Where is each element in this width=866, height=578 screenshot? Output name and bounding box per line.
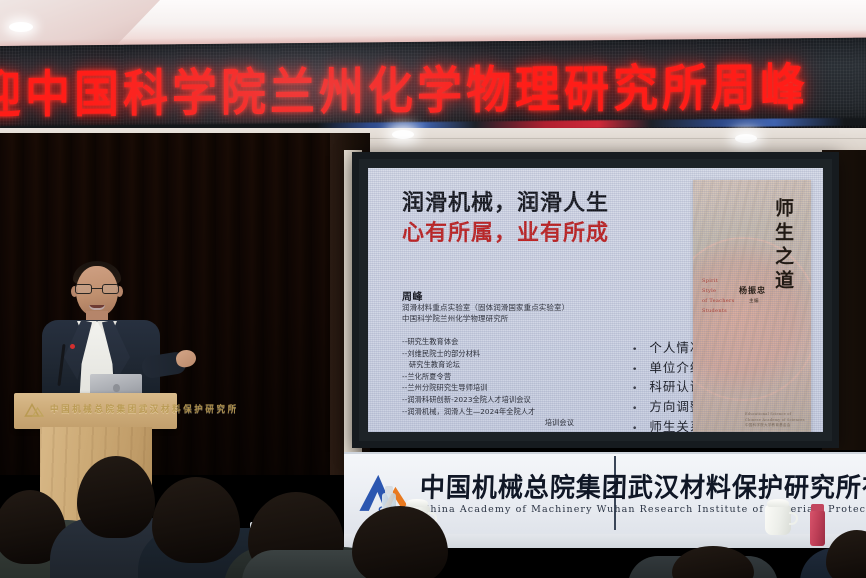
speaker-mouth <box>89 305 105 310</box>
list-item: --兰州分院研究生导师培训 <box>402 382 598 394</box>
book-author: 杨振忠 <box>739 285 766 296</box>
audience-head <box>672 546 754 578</box>
laptop-logo-icon <box>113 384 120 392</box>
slide-left-list: --研究生教育体会 --刘维民院士的部分材料 研究生教育论坛 --兰化所夏令营 … <box>402 336 598 432</box>
audience-head <box>152 477 240 563</box>
speaker-figure <box>30 258 190 398</box>
cup-body <box>765 505 791 535</box>
bullet-dot-icon: • <box>632 364 638 378</box>
glasses-bridge <box>92 288 102 289</box>
sponsor-name-english: China Academy of Machinery Wuhan Researc… <box>422 504 866 515</box>
bullet-dot-icon: • <box>632 403 638 417</box>
bottle-cap <box>385 486 393 494</box>
bullet-dot-icon: • <box>632 423 638 432</box>
presentation-screen: 润滑机械，润滑人生 心有所属，业有所成 周峰 润滑材料重点实验室（固体润滑国家重… <box>368 168 823 432</box>
bullet-dot-icon: • <box>632 383 638 397</box>
list-item: --润滑机械，润滑人生—2024年全院人才 <box>402 406 598 418</box>
lecture-hall-scene: 迎中国科学院兰州化学物理研究所周峰 润滑机械，润滑人生 心有所属，业有所成 周峰… <box>0 0 866 578</box>
book-publisher: Educational Science of Chinese Academy o… <box>745 412 805 429</box>
podium-plaque: 中国机械总院集团武汉材料保护研究所 <box>14 393 177 429</box>
list-item-continuation: 培训会议 <box>402 417 598 429</box>
cam-logo-icon <box>24 402 45 418</box>
book-title: 师生之道 <box>770 198 797 294</box>
glasses-lens-right <box>102 284 119 294</box>
glasses-lens-left <box>75 284 92 294</box>
glasses-icon <box>74 284 120 294</box>
slide-content: 润滑机械，润滑人生 心有所属，业有所成 周峰 润滑材料重点实验室（固体润滑国家重… <box>368 168 823 432</box>
red-lapel-pin-icon <box>70 344 75 349</box>
list-item: --研究生教育体会 <box>402 336 598 348</box>
list-item: 研究生教育论坛 <box>402 359 598 371</box>
book-english-subtitle: Spirit Style of Teachers Students <box>702 276 735 316</box>
bullet-dot-icon: • <box>632 344 638 358</box>
spotlight-icon <box>392 130 414 139</box>
spotlight-icon <box>735 134 757 143</box>
sponsor-name-chinese: 中国机械总院集团武汉材料保护研究所有限公司 <box>419 467 866 505</box>
book-cover-image: 师生之道 Spirit Style of Teachers Students 杨… <box>693 180 811 432</box>
list-item: --兰化所夏令营 <box>402 371 598 383</box>
thermos-cap <box>811 504 824 511</box>
led-banner-text: 迎中国科学院兰州化学物理研究所周峰 <box>0 46 866 128</box>
list-item: --润滑科研创新-2023全院人才培训会议 <box>402 394 598 406</box>
list-item: --刘维民院士的部分材料 <box>402 348 598 360</box>
ceiling-light-icon <box>9 22 33 32</box>
book-author-role: 主编 <box>749 298 759 304</box>
podium-plaque-text: 中国机械总院集团武汉材料保护研究所 <box>50 403 239 416</box>
presentation-screen-frame: 润滑机械，润滑人生 心有所属，业有所成 周峰 润滑材料重点实验室（固体润滑国家重… <box>352 152 839 448</box>
list-ellipsis: …… <box>402 431 598 432</box>
thermos-body <box>810 510 825 546</box>
